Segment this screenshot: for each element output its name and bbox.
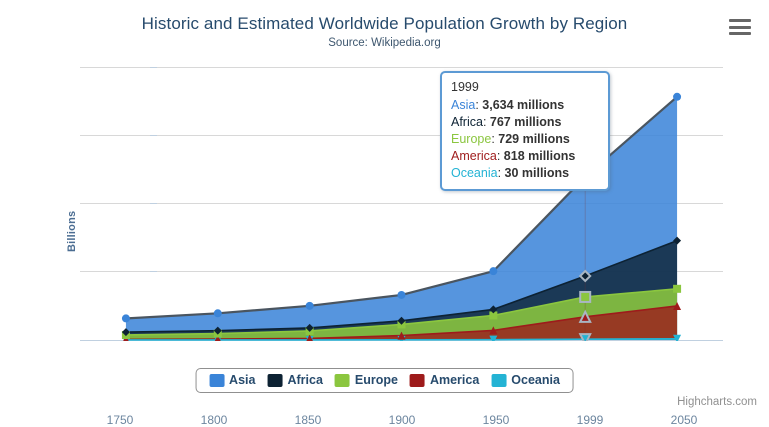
- tooltip-sep-africa: :: [483, 115, 490, 129]
- x-axis-label-1999: 1999: [577, 413, 604, 427]
- legend: Asia Africa Europe America Oceania: [195, 368, 574, 393]
- tooltip-row-asia: Asia: 3,634 millions: [451, 97, 599, 114]
- chart-subtitle: Source: Wikipedia.org: [0, 37, 769, 49]
- point-europe-2050[interactable]: [673, 285, 681, 293]
- legend-swatch-africa: [267, 374, 282, 387]
- tooltip-sep-america: :: [497, 149, 504, 163]
- x-axis-label-1800: 1800: [201, 413, 228, 427]
- point-asia-1900[interactable]: [398, 291, 406, 299]
- tooltip-value-america: 818 millions: [504, 149, 576, 163]
- tooltip-row-america: America: 818 millions: [451, 148, 599, 165]
- tooltip-series-name-oceania: Oceania: [451, 166, 498, 180]
- tooltip-value-africa: 767 millions: [490, 115, 562, 129]
- legend-item-america[interactable]: America: [407, 373, 482, 387]
- hamburger-bar-1: [729, 19, 751, 22]
- chart-title: Historic and Estimated Worldwide Populat…: [0, 14, 769, 34]
- x-axis-label-2050: 2050: [671, 413, 698, 427]
- tooltip-value-europe: 729 millions: [498, 132, 570, 146]
- hamburger-bar-2: [729, 26, 751, 29]
- legend-swatch-asia: [209, 374, 224, 387]
- series-layer: [80, 67, 723, 341]
- tooltip: 1999 Asia: 3,634 millions Africa: 767 mi…: [440, 71, 610, 191]
- legend-label-oceania: Oceania: [511, 373, 560, 387]
- hamburger-menu-icon[interactable]: [729, 18, 751, 36]
- point-asia-1850[interactable]: [306, 302, 314, 310]
- x-axis-label-1950: 1950: [483, 413, 510, 427]
- legend-item-europe[interactable]: Europe: [332, 373, 401, 387]
- legend-swatch-europe: [335, 374, 350, 387]
- credits-link[interactable]: Highcharts.com: [677, 396, 757, 408]
- highcharts-container: Historic and Estimated Worldwide Populat…: [0, 0, 769, 416]
- legend-label-europe: Europe: [355, 373, 398, 387]
- legend-swatch-america: [410, 374, 425, 387]
- legend-label-america: America: [430, 373, 479, 387]
- x-axis-label-1750: 1750: [107, 413, 134, 427]
- point-europe-1999[interactable]: [580, 292, 590, 302]
- legend-swatch-oceania: [491, 374, 506, 387]
- hamburger-bar-3: [729, 32, 751, 35]
- point-asia-1800[interactable]: [214, 309, 222, 317]
- tooltip-row-africa: Africa: 767 millions: [451, 114, 599, 131]
- point-asia-1950[interactable]: [489, 267, 497, 275]
- legend-label-asia: Asia: [229, 373, 255, 387]
- tooltip-series-name-africa: Africa: [451, 115, 483, 129]
- tooltip-series-name-europe: Europe: [451, 132, 491, 146]
- legend-item-africa[interactable]: Africa: [264, 373, 325, 387]
- tooltip-row-europe: Europe: 729 millions: [451, 131, 599, 148]
- tooltip-value-asia: 3,634 millions: [482, 98, 564, 112]
- point-asia-2050[interactable]: [673, 93, 681, 101]
- point-asia-1750[interactable]: [122, 314, 130, 322]
- tooltip-row-oceania: Oceania: 30 millions: [451, 165, 599, 182]
- legend-item-oceania[interactable]: Oceania: [488, 373, 563, 387]
- x-axis-label-1900: 1900: [389, 413, 416, 427]
- tooltip-value-oceania: 30 millions: [505, 166, 570, 180]
- tooltip-header: 1999: [451, 79, 599, 97]
- legend-label-africa: Africa: [287, 373, 322, 387]
- x-axis-label-1850: 1850: [295, 413, 322, 427]
- tooltip-series-name-asia: Asia: [451, 98, 475, 112]
- tooltip-series-name-america: America: [451, 149, 497, 163]
- y-axis-title: Billions: [66, 211, 78, 252]
- legend-item-asia[interactable]: Asia: [206, 373, 258, 387]
- tooltip-sep-oceania: :: [498, 166, 505, 180]
